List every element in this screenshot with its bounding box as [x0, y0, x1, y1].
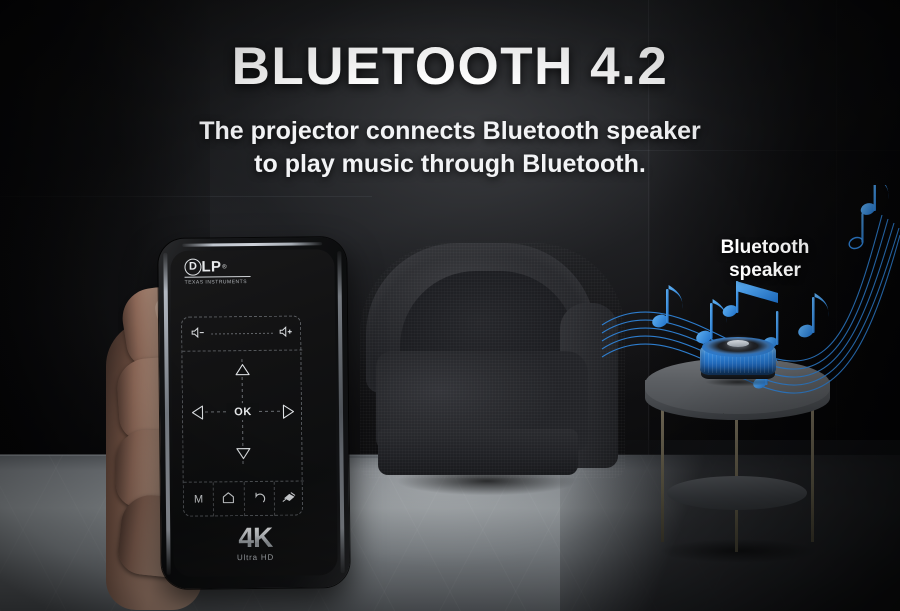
promo-banner: D LP ® TEXAS INSTRUMENTS — [0, 0, 900, 611]
speaker-indicator-light — [727, 340, 749, 347]
menu-button[interactable]: M — [184, 482, 215, 516]
dlp-company-name: TEXAS INSTRUMENTS — [185, 279, 263, 286]
home-icon — [222, 491, 235, 507]
resolution-logo: 4K Ultra HD — [161, 523, 349, 563]
dpad-down-icon[interactable] — [235, 447, 251, 460]
armchair — [360, 243, 625, 503]
device-edge-top — [182, 242, 322, 246]
projector-device[interactable]: D LP ® TEXAS INSTRUMENTS — [158, 237, 350, 589]
dlp-logo-row: D LP ® — [184, 258, 262, 276]
volume-row — [182, 316, 302, 351]
back-button[interactable] — [244, 482, 275, 516]
table-leg — [661, 402, 664, 542]
bluetooth-speaker — [698, 335, 778, 381]
armchair-seat-front — [378, 429, 578, 475]
mouse-icon — [282, 491, 297, 507]
touch-control-panel[interactable]: OK M — [181, 316, 303, 517]
note-group-right — [848, 185, 889, 250]
subtitle-line-2: to play music through Bluetooth. — [0, 148, 900, 181]
dpad-up-icon[interactable] — [234, 363, 250, 376]
home-button[interactable] — [214, 482, 245, 516]
bluetooth-speaker-callout: Bluetooth speaker — [690, 236, 840, 282]
volume-divider — [211, 333, 273, 335]
function-button-row: M — [184, 480, 304, 516]
volume-down-icon[interactable] — [191, 325, 205, 343]
dpad-right-icon[interactable] — [282, 404, 295, 420]
dlp-underline — [185, 276, 251, 278]
menu-icon: M — [194, 494, 203, 506]
page-title: BLUETOOTH 4.2 — [0, 36, 900, 97]
table-leg — [811, 402, 814, 542]
callout-line-2: speaker — [690, 259, 840, 282]
subtitle-line-1: The projector connects Bluetooth speaker — [0, 115, 900, 148]
dlp-circle-d: D — [184, 259, 201, 276]
mouse-mode-button[interactable] — [274, 481, 304, 515]
dlp-text: LP — [201, 258, 221, 275]
directional-pad[interactable]: OK — [182, 350, 303, 473]
registered-trademark-icon: ® — [222, 264, 226, 270]
resolution-primary: 4K — [161, 523, 349, 553]
callout-line-1: Bluetooth — [690, 236, 840, 259]
volume-up-icon[interactable] — [279, 324, 293, 342]
ok-button[interactable]: OK — [227, 403, 259, 420]
table-lower-shelf — [667, 476, 807, 510]
dlp-logo: D LP ® TEXAS INSTRUMENTS — [184, 258, 262, 293]
back-icon — [252, 491, 265, 507]
dpad-left-icon[interactable] — [191, 405, 204, 421]
page-subtitle: The projector connects Bluetooth speaker… — [0, 115, 900, 181]
